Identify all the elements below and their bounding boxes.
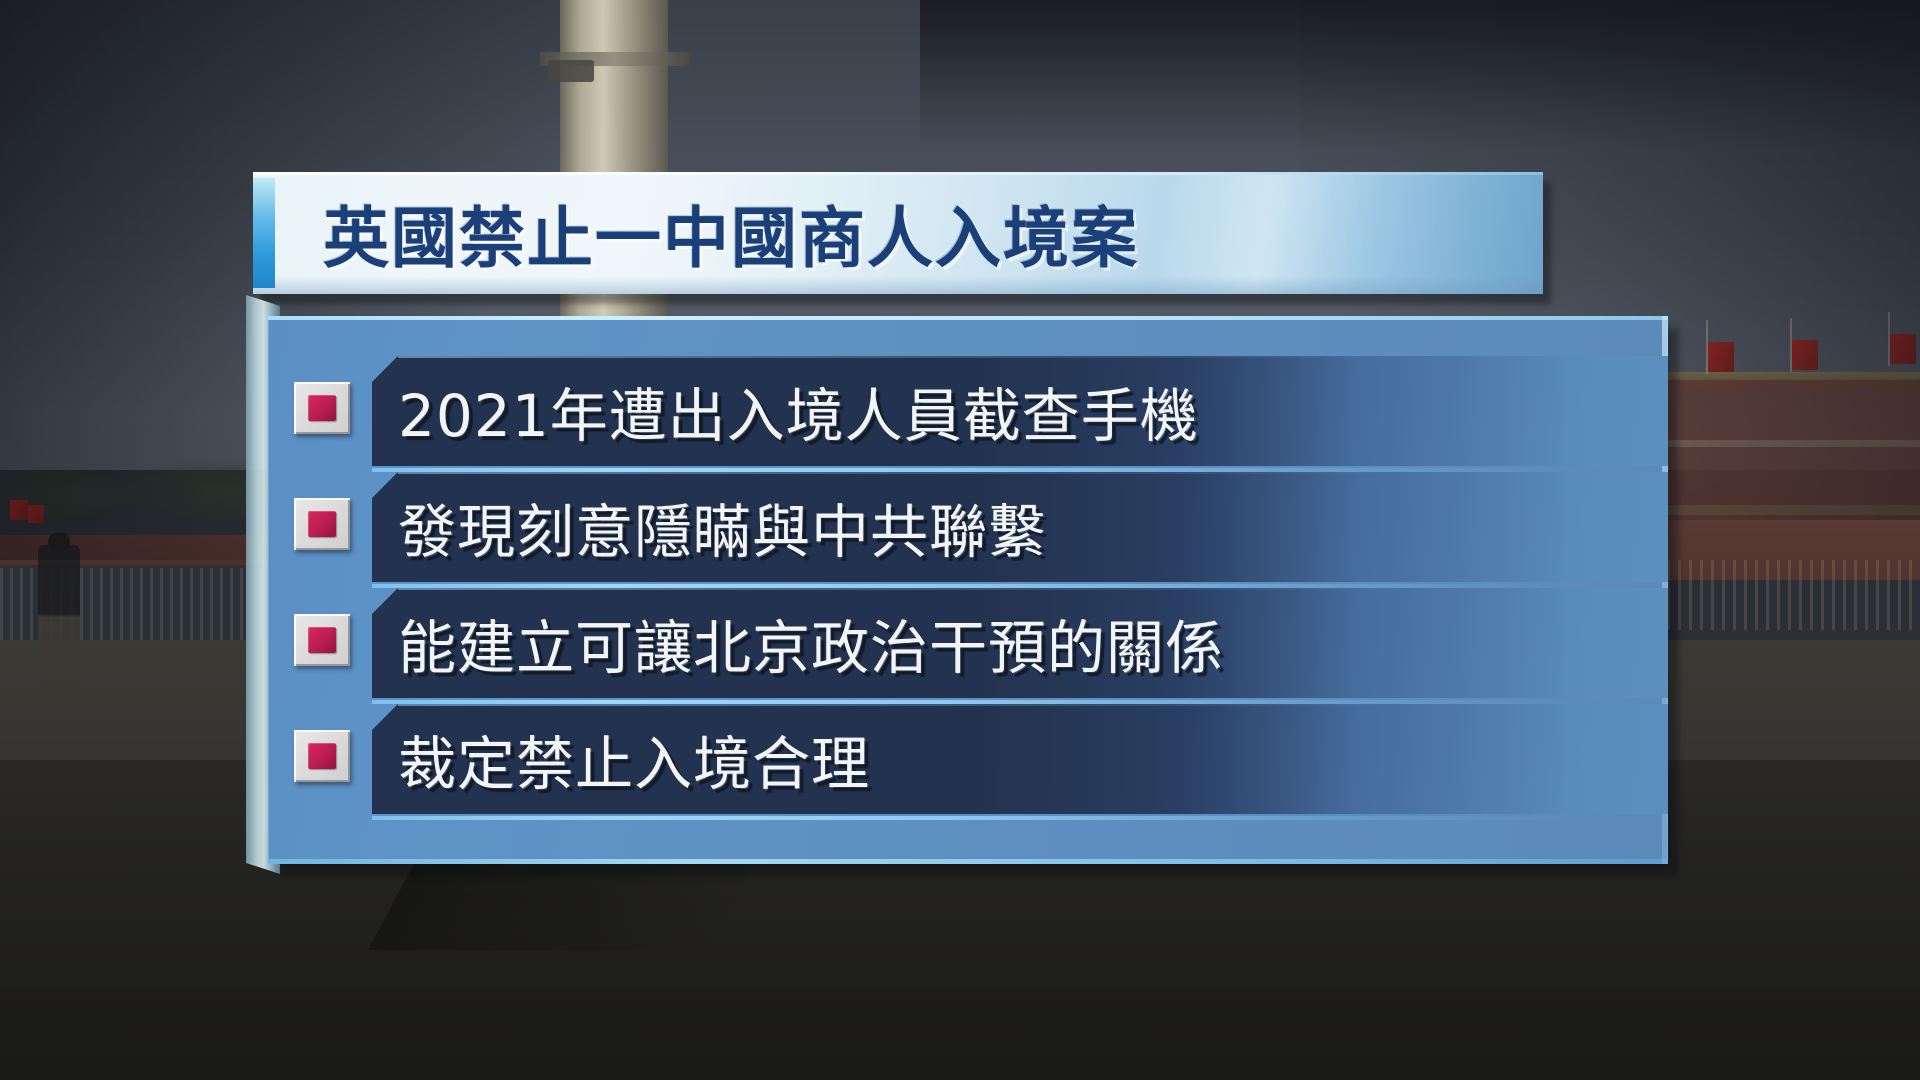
list-item-label: 裁定禁止入境合理 (398, 717, 870, 801)
headline-banner-highlight (253, 172, 1543, 175)
bullet-marker-column (268, 320, 372, 860)
list-item: 2021年遭出入境人員截查手機 (372, 356, 1668, 466)
vignette-top (920, 0, 1920, 150)
bullet-panel-bottom-edge (268, 859, 1668, 864)
list-item: 能建立可讓北京政治干預的關係 (372, 588, 1668, 698)
headline-accent-bar (253, 178, 275, 288)
bystander-figure (38, 545, 80, 695)
list-item-separator (372, 816, 1668, 820)
page-title: 英國禁止一中國商人入境案 (323, 185, 1139, 281)
list-item-top-glow (398, 472, 1668, 474)
list-item: 裁定禁止入境合理 (372, 704, 1668, 814)
list-item-label: 2021年遭出入境人員截查手機 (398, 369, 1199, 453)
square-bullet-icon (294, 614, 350, 666)
headline-banner: 英國禁止一中國商人入境案 (253, 172, 1543, 294)
bullet-panel: 2021年遭出入境人員截查手機 發現刻意隱瞞與中共聯繫 能建立可讓北京政治干預的… (268, 316, 1668, 864)
bullet-rows: 2021年遭出入境人員截查手機 發現刻意隱瞞與中共聯繫 能建立可讓北京政治干預的… (372, 356, 1668, 826)
list-item-label: 發現刻意隱瞞與中共聯繫 (398, 485, 1047, 569)
square-bullet-icon-core (308, 627, 336, 653)
square-bullet-icon (294, 382, 350, 434)
bullet-panel-top-edge (268, 316, 1668, 320)
list-item-top-glow (398, 588, 1668, 590)
square-bullet-icon (294, 498, 350, 550)
square-bullet-icon-core (308, 743, 336, 769)
list-item: 發現刻意隱瞞與中共聯繫 (372, 472, 1668, 582)
square-bullet-icon-core (308, 395, 336, 421)
list-item-top-glow (398, 704, 1668, 706)
square-bullet-icon-core (308, 511, 336, 537)
list-item-label: 能建立可讓北京政治干預的關係 (398, 601, 1224, 685)
list-item-top-glow (398, 356, 1668, 358)
broadcast-lower-third-screen: 英國禁止一中國商人入境案 (0, 0, 1920, 1080)
square-bullet-icon (294, 730, 350, 782)
bullet-panel-surface: 2021年遭出入境人員截查手機 發現刻意隱瞞與中共聯繫 能建立可讓北京政治干預的… (268, 316, 1668, 864)
